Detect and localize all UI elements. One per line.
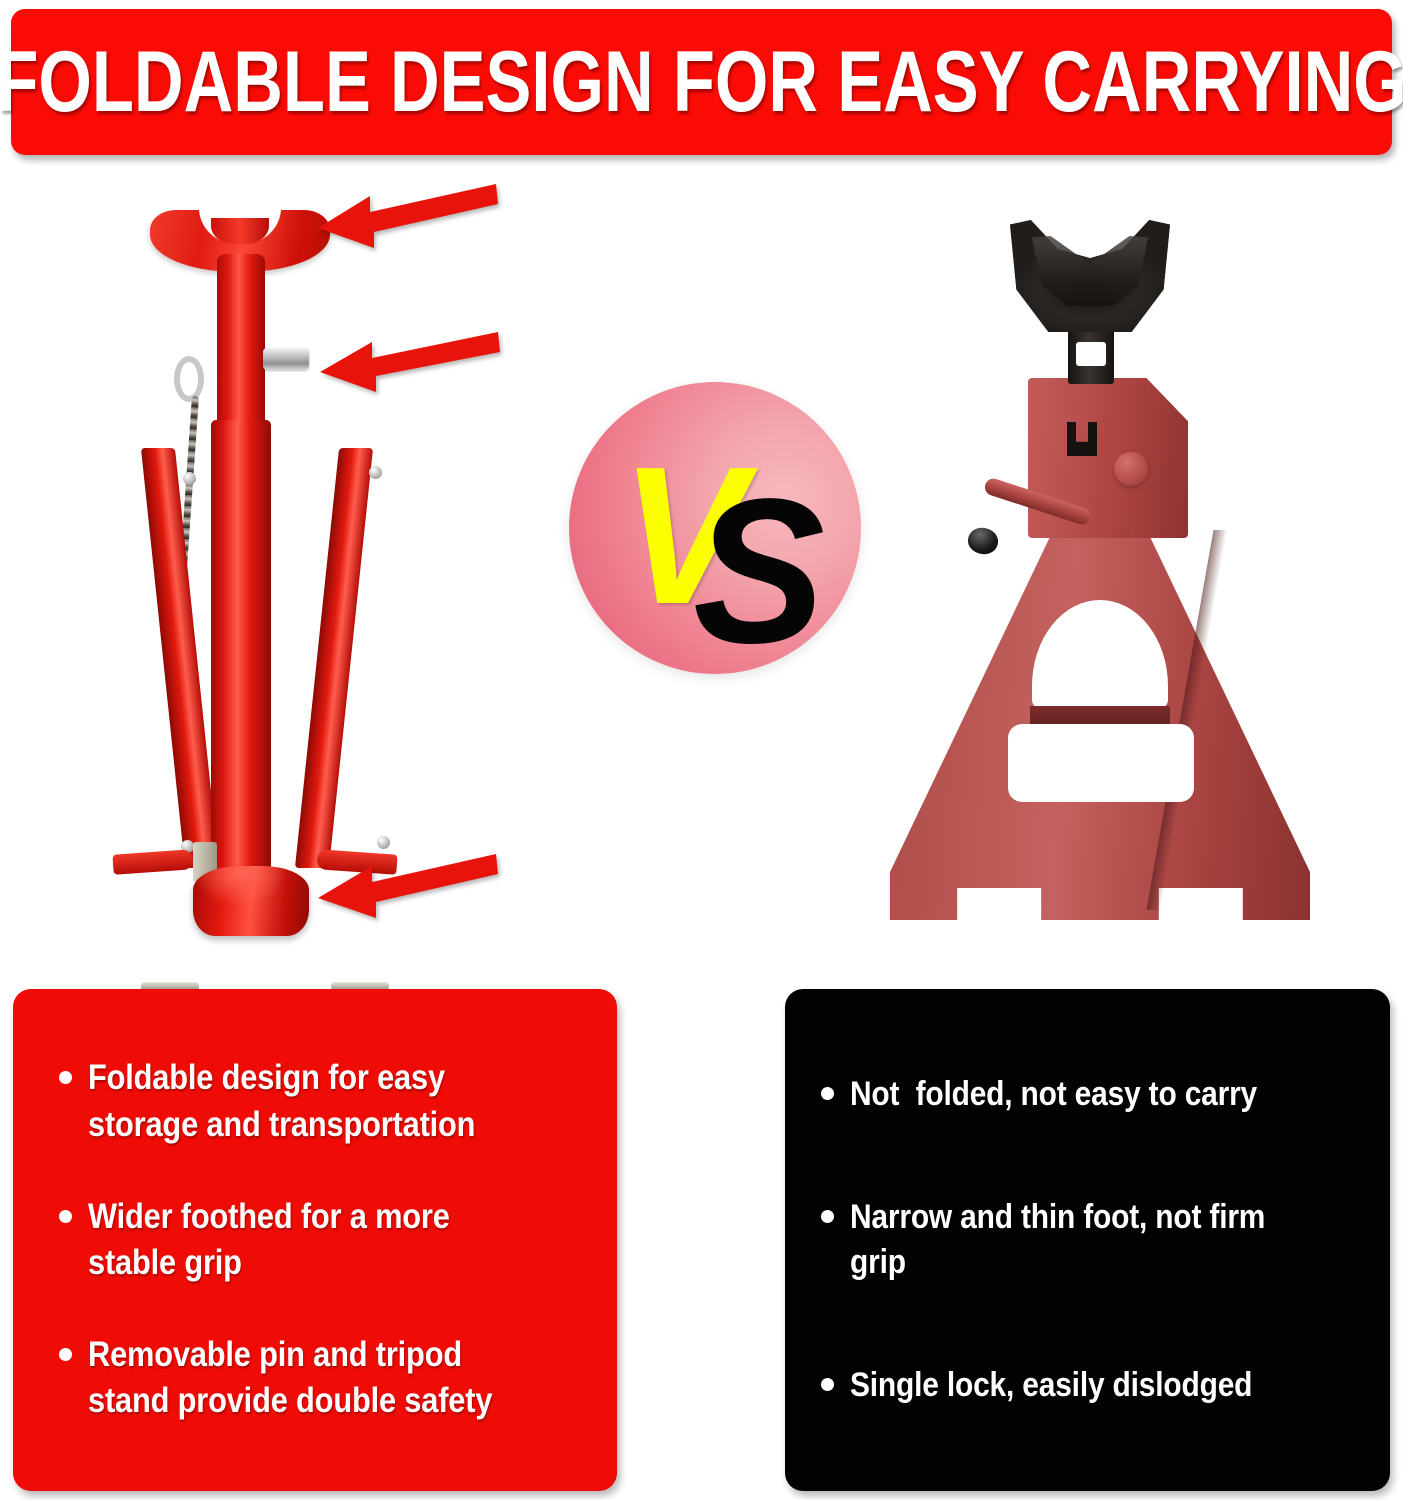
bullet-dot-icon <box>59 1210 72 1223</box>
bullet-dot-icon <box>821 1087 834 1100</box>
advantage-text: Wider foothed for a more stable grip <box>88 1194 524 1286</box>
frame-inner-shadow <box>1030 706 1170 726</box>
disadvantage-text: Single lock, easily dislodged <box>850 1363 1304 1408</box>
advantages-panel: Foldable design for easy storage and tra… <box>13 989 617 1491</box>
removable-pin-icon <box>263 348 309 370</box>
folding-leg-right <box>295 448 373 868</box>
bullet-dot-icon <box>59 1071 72 1084</box>
folding-leg-left <box>141 448 219 868</box>
ratchet-bar-notch <box>1076 342 1106 366</box>
product-comparison-stage: V S <box>0 160 1403 980</box>
advantage-text: Removable pin and tripod stand provide d… <box>88 1332 524 1424</box>
arrow-wide-foot-icon <box>318 850 498 922</box>
list-item: Removable pin and tripod stand provide d… <box>59 1332 583 1424</box>
list-item: Single lock, easily dislodged <box>821 1363 1366 1408</box>
advantage-text: Foldable design for easy storage and tra… <box>88 1055 524 1147</box>
bullet-dot-icon <box>821 1378 834 1391</box>
bullet-dot-icon <box>821 1210 834 1223</box>
disadvantage-text: Not folded, not easy to carry <box>850 1072 1304 1117</box>
disadvantage-text: Narrow and thin foot, not firm grip <box>850 1195 1304 1285</box>
wide-base-foot-icon <box>193 866 309 936</box>
leg-foot-left <box>112 849 193 875</box>
bullet-dot-icon <box>59 1348 72 1361</box>
pivot-knob-icon <box>1114 452 1148 486</box>
disadvantages-panel: Not folded, not easy to carry Narrow and… <box>785 989 1390 1491</box>
list-item: Foldable design for easy storage and tra… <box>59 1055 583 1147</box>
list-item: Wider foothed for a more stable grip <box>59 1194 583 1286</box>
arrow-removable-pin-icon <box>320 332 500 398</box>
list-item: Narrow and thin foot, not firm grip <box>821 1195 1366 1285</box>
outer-column <box>211 420 271 890</box>
frame-cutout-bottom <box>1008 724 1194 802</box>
pin-ring-icon <box>174 356 204 402</box>
product-image-competitor-jack-stand <box>880 220 1320 980</box>
header-banner: FOLDABLE DESIGN FOR EASY CARRYING <box>11 9 1392 155</box>
versus-badge: V S <box>569 382 861 674</box>
arrow-saddle-top-icon <box>318 182 498 254</box>
rivet-icon <box>369 466 382 479</box>
list-item: Not folded, not easy to carry <box>821 1072 1366 1117</box>
inner-column <box>217 254 265 434</box>
page-title: FOLDABLE DESIGN FOR EASY CARRYING <box>0 39 1403 125</box>
rivet-icon <box>183 472 196 485</box>
vs-letter-s: S <box>693 468 825 674</box>
handle-tip-icon <box>965 524 1002 558</box>
rivet-icon <box>377 836 390 849</box>
